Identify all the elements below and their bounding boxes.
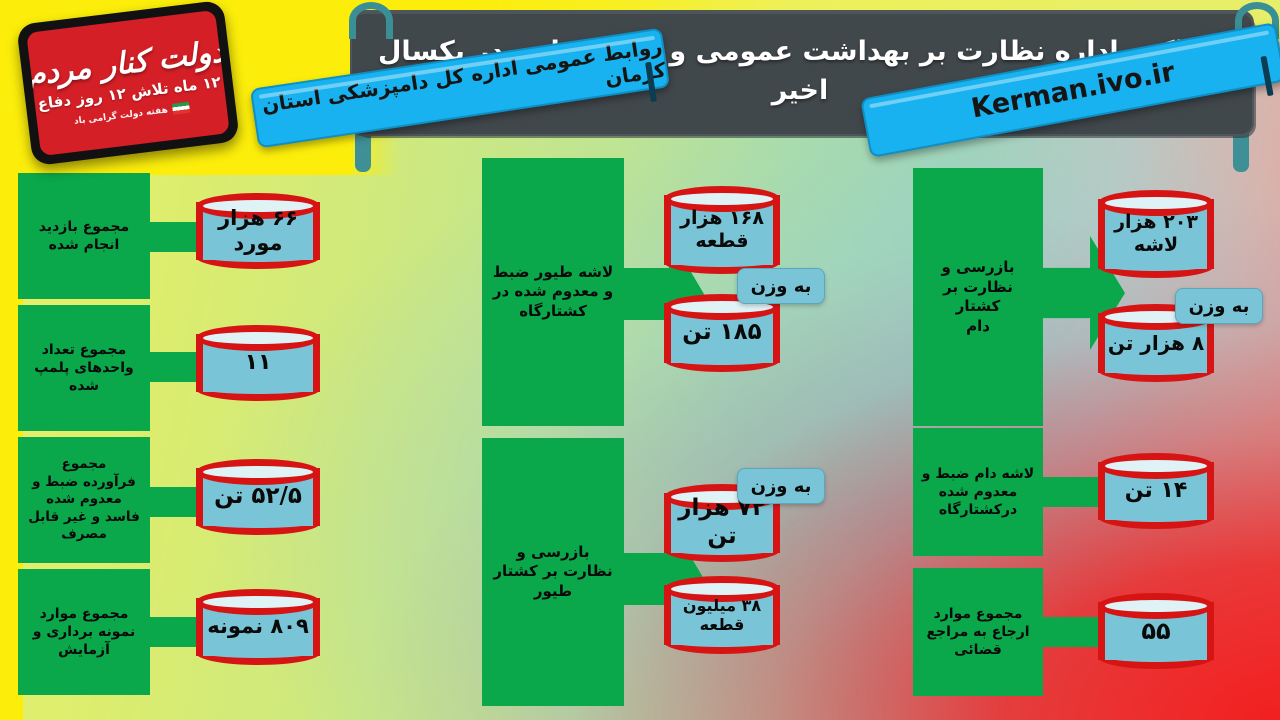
- badge-by-weight-livestock-slaughter: به وزن: [1175, 288, 1263, 324]
- metric-value-livestock-carcass-destroyed: ۱۴ تن: [1098, 453, 1214, 529]
- metric-label-total-visits: مجموع بازدید انجام شده: [18, 173, 150, 299]
- metric-value-sealed-units-label: ۱۱: [196, 325, 320, 401]
- metric-value-judicial-referrals: ۵۵: [1098, 593, 1214, 669]
- metric-value-poultry-carcass-weight-label: ۱۸۵ تن: [664, 294, 780, 372]
- metric-value-poultry-slaughter-count-label: ۳۸ میلیون قطعه: [664, 576, 780, 654]
- metric-label-judicial-referrals: مجموع موارد ارجاع به مراجع قضائی: [913, 568, 1043, 696]
- metric-label-samples-tested: مجموع موارد نمونه برداری و آزمایش: [18, 569, 150, 695]
- metric-value-samples-tested-label: ۸۰۹ نمونه: [196, 589, 320, 665]
- iran-flag-icon: [172, 102, 190, 115]
- metric-label-poultry-carcass-destroyed: لاشه طیور ضبط و معدوم شده در کشتارگاه: [482, 158, 624, 426]
- metric-label-sealed-units: مجموع تعداد واحدهای پلمپ شده: [18, 305, 150, 431]
- metric-value-destroyed-products: ۵۲/۵ تن: [196, 459, 320, 535]
- metric-label-poultry-slaughter-inspection: بازرسی و نظارت بر کشتار طیور: [482, 438, 624, 706]
- infographic-canvas: عملکرد اداره نظارت بر بهداشت عمومی و موا…: [0, 0, 1280, 720]
- government-week-logo: دولت کنار مردم ۱۲ ماه تلاش ۱۲ روز دفاع ه…: [16, 0, 240, 166]
- metric-label-livestock-carcass-destroyed: لاشه دام ضبط و معدوم شده درکشتارگاه: [913, 428, 1043, 556]
- metric-value-samples-tested: ۸۰۹ نمونه: [196, 589, 320, 665]
- metric-value-livestock-carcass-count-label: ۲۰۳ هزار لاشه: [1098, 190, 1214, 278]
- metric-value-total-visits: ۶۶ هزار مورد: [196, 193, 320, 269]
- badge-by-weight-poultry-slaughter: به وزن: [737, 468, 825, 504]
- metric-value-poultry-carcass-count-label: ۱۶۸ هزار قطعه: [664, 186, 780, 274]
- badge-by-weight-poultry-carcass: به وزن: [737, 268, 825, 304]
- metric-value-livestock-carcass-destroyed-label: ۱۴ تن: [1098, 453, 1214, 529]
- metric-value-poultry-carcass-count: ۱۶۸ هزار قطعه: [664, 186, 780, 274]
- hook-left-icon: [349, 2, 393, 39]
- logo-footer-label: هفته دولت گرامی باد: [73, 105, 168, 126]
- metric-value-destroyed-products-label: ۵۲/۵ تن: [196, 459, 320, 535]
- metric-value-sealed-units: ۱۱: [196, 325, 320, 401]
- metric-value-livestock-carcass-count: ۲۰۳ هزار لاشه: [1098, 190, 1214, 278]
- metric-value-poultry-carcass-weight: ۱۸۵ تن: [664, 294, 780, 372]
- metric-label-livestock-slaughter-inspection: بازرسی و نظارت بر کشتار دام: [913, 168, 1043, 426]
- metric-value-poultry-slaughter-count: ۳۸ میلیون قطعه: [664, 576, 780, 654]
- metric-value-judicial-referrals-label: ۵۵: [1098, 593, 1214, 669]
- logo-inner-plate: دولت کنار مردم ۱۲ ماه تلاش ۱۲ روز دفاع ه…: [26, 10, 230, 156]
- metric-label-destroyed-products: مجموع فرآورده ضبط و معدوم شده فاسد و غیر…: [18, 437, 150, 563]
- metric-value-total-visits-label: ۶۶ هزار مورد: [196, 193, 320, 269]
